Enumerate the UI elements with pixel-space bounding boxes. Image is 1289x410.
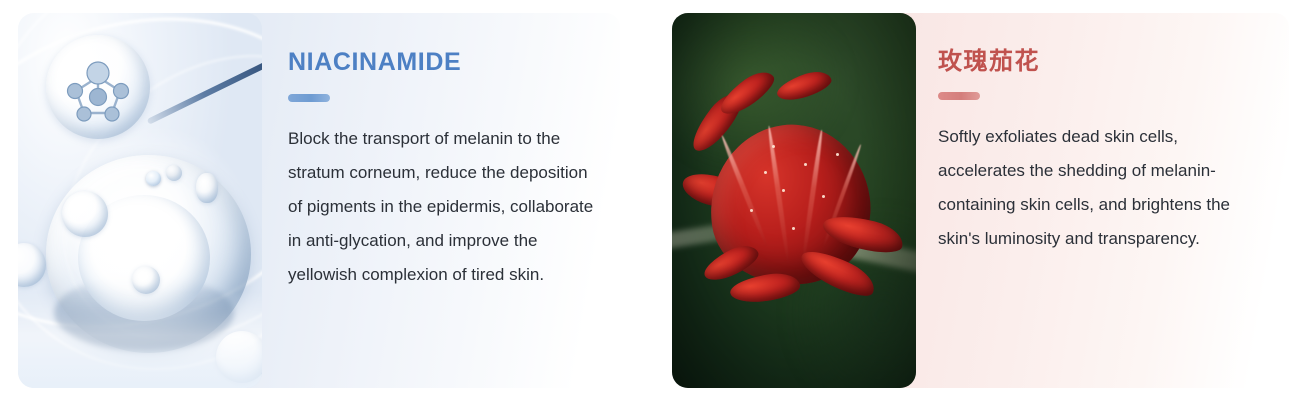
card-title-roselle: 玫瑰茄花 [938,49,1268,75]
small-bubble-shape [132,266,160,294]
text-column-niacinamide: NIACINAMIDE Block the transport of melan… [288,0,604,292]
molecule-bubble-shape [46,35,150,139]
title-divider-rule [938,92,980,100]
ingredient-card-roselle: 玫瑰茄花 Softly exfoliates dead skin cells, … [655,0,1289,410]
small-bubble-shape [62,191,108,237]
molecule-icon [46,35,150,139]
photo-mist-overlay [18,292,262,388]
ingredient-card-niacinamide: NIACINAMIDE Block the transport of melan… [0,0,620,410]
photo-vignette-overlay [672,13,916,388]
ingredient-cards-stage: NIACINAMIDE Block the transport of melan… [0,0,1289,410]
title-divider-rule [288,94,330,102]
small-bubble-shape [196,173,218,203]
card-description-niacinamide: Block the transport of melanin to the st… [288,122,604,292]
droplet-icon [146,171,161,186]
text-column-roselle: 玫瑰茄花 Softly exfoliates dead skin cells, … [938,0,1268,256]
roselle-hibiscus-bud-photo [672,13,916,388]
card-title-niacinamide: NIACINAMIDE [288,49,604,77]
card-description-roselle: Softly exfoliates dead skin cells, accel… [938,120,1268,256]
small-bubble-shape [166,165,182,181]
serum-bubbles-molecule-photo [18,13,262,388]
